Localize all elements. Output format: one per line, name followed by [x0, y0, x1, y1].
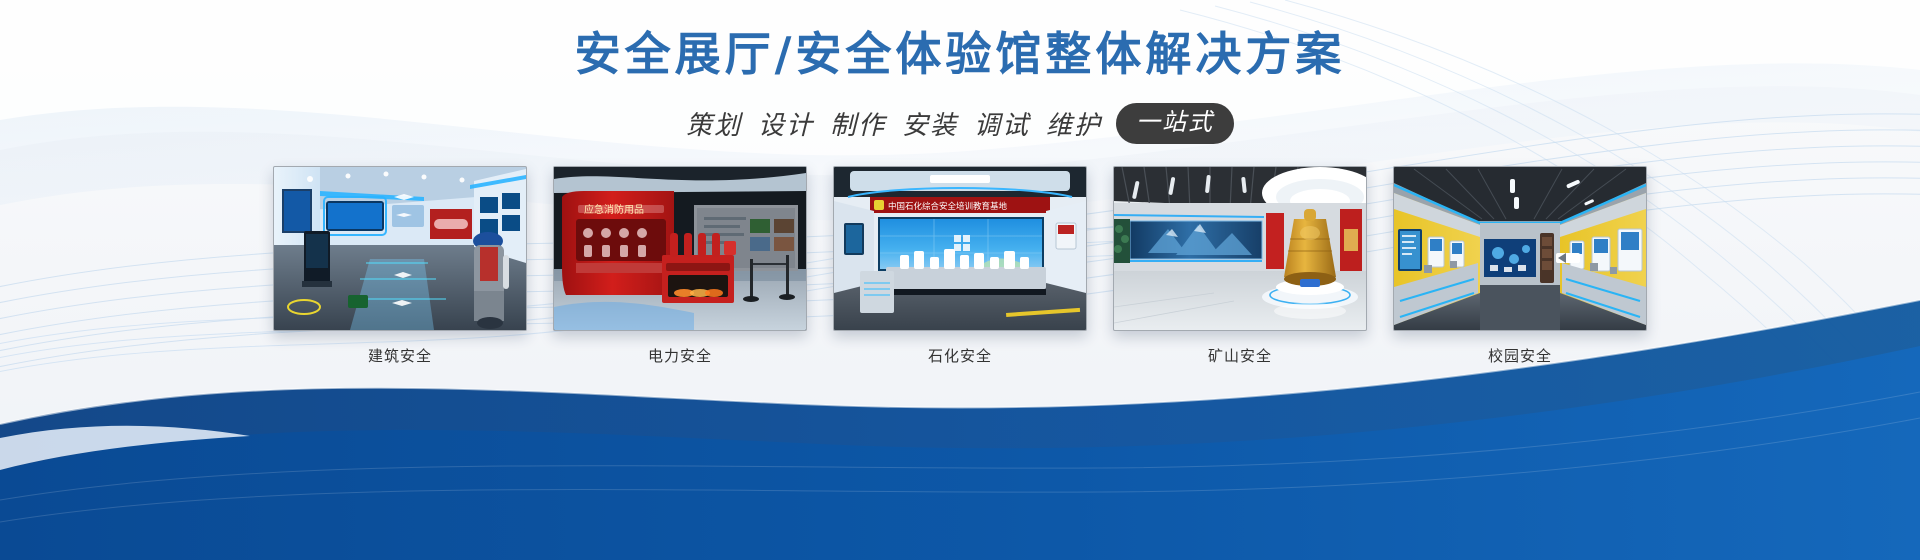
thumbnail-image-construction-safety[interactable]: [273, 166, 527, 331]
thumbnail-image-petrochemical-safety[interactable]: 中国石化综合安全培训教育基地: [833, 166, 1087, 331]
thumbnail-image-mining-safety[interactable]: [1113, 166, 1367, 331]
thumbnail-caption: 校园安全: [1488, 345, 1552, 366]
thumbnail-image-campus-safety[interactable]: [1393, 166, 1647, 331]
thumbnail-gallery: 建筑安全: [0, 166, 1920, 366]
thumbnail-item[interactable]: 中国石化综合安全培训教育基地: [834, 166, 1086, 366]
one-stop-badge: 一站式: [1116, 103, 1234, 144]
thumbnail-item[interactable]: 校园安全: [1394, 166, 1646, 366]
thumbnail-caption: 建筑安全: [368, 345, 432, 366]
service-step-installation: 安装: [902, 105, 958, 142]
svg-text:中国石化综合安全培训教育基地: 中国石化综合安全培训教育基地: [888, 201, 1008, 212]
thumbnail-item[interactable]: 矿山安全: [1114, 166, 1366, 366]
thumbnail-item[interactable]: 建筑安全: [274, 166, 526, 366]
service-step-design: 设计: [758, 105, 814, 142]
thumbnail-item[interactable]: 应急消防用品: [554, 166, 806, 366]
subtitle-row: 策划 设计 制作 安装 调试 维护 一站式: [0, 81, 1920, 144]
service-step-planning: 策划: [686, 105, 742, 142]
thumbnail-caption: 电力安全: [648, 345, 712, 366]
service-steps-list: 策划 设计 制作 安装 调试 维护: [686, 105, 1102, 142]
thumbnail-caption: 矿山安全: [1208, 345, 1272, 366]
svg-text:应急消防用品: 应急消防用品: [584, 203, 644, 216]
thumbnail-image-electrical-safety[interactable]: 应急消防用品: [553, 166, 807, 331]
safety-exhibition-banner: 安全展厅/安全体验馆整体解决方案 策划 设计 制作 安装 调试 维护 一站式: [0, 0, 1920, 560]
thumbnail-caption: 石化安全: [928, 345, 992, 366]
service-step-debugging: 调试: [974, 105, 1030, 142]
service-step-production: 制作: [830, 105, 886, 142]
page-title: 安全展厅/安全体验馆整体解决方案: [0, 0, 1920, 81]
service-step-maintenance: 维护: [1046, 105, 1102, 142]
headline-block: 安全展厅/安全体验馆整体解决方案 策划 设计 制作 安装 调试 维护 一站式: [0, 0, 1920, 144]
